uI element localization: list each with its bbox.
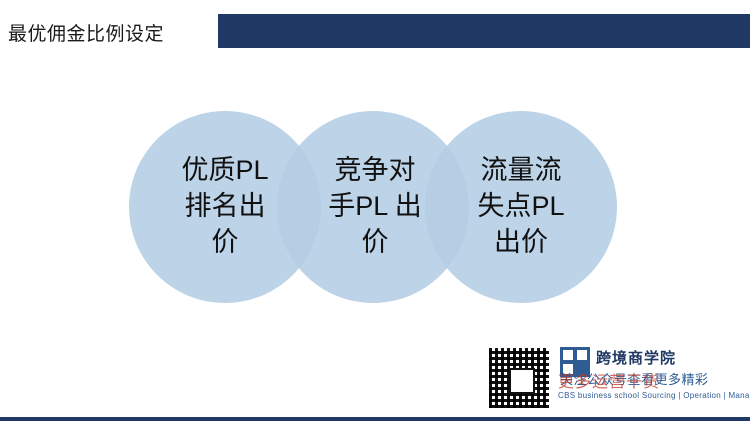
title-bar: 最优佣金比例设定	[0, 14, 750, 48]
venn-label-quality-pl-ranking-bid: 优质PL 排名出 价	[150, 152, 300, 260]
venn-label-traffic-loss-point-pl-bid: 流量流 失点PL 出价	[446, 152, 596, 260]
page-title: 最优佣金比例设定	[8, 19, 164, 46]
slide-canvas: 最优佣金比例设定 优质PL 排名出 价 竞争对 手PL 出 价 流量流 失点PL…	[0, 0, 750, 421]
venn-label-competitor-pl-bid: 竞争对 手PL 出 价	[300, 152, 450, 260]
qr-code-icon	[486, 345, 552, 411]
watermark-overlay-text: 更多运营干货	[558, 368, 660, 392]
bottom-accent-bar	[0, 417, 750, 421]
watermark-block: 跨境商学院 关注公众号查看更多精彩 更多运营干货 CBS business sc…	[486, 345, 734, 411]
brand-name-en: CBS business school Sourcing | Operation…	[558, 391, 750, 400]
qr-code-center	[509, 368, 535, 394]
brand-name-cn: 跨境商学院	[596, 347, 676, 368]
